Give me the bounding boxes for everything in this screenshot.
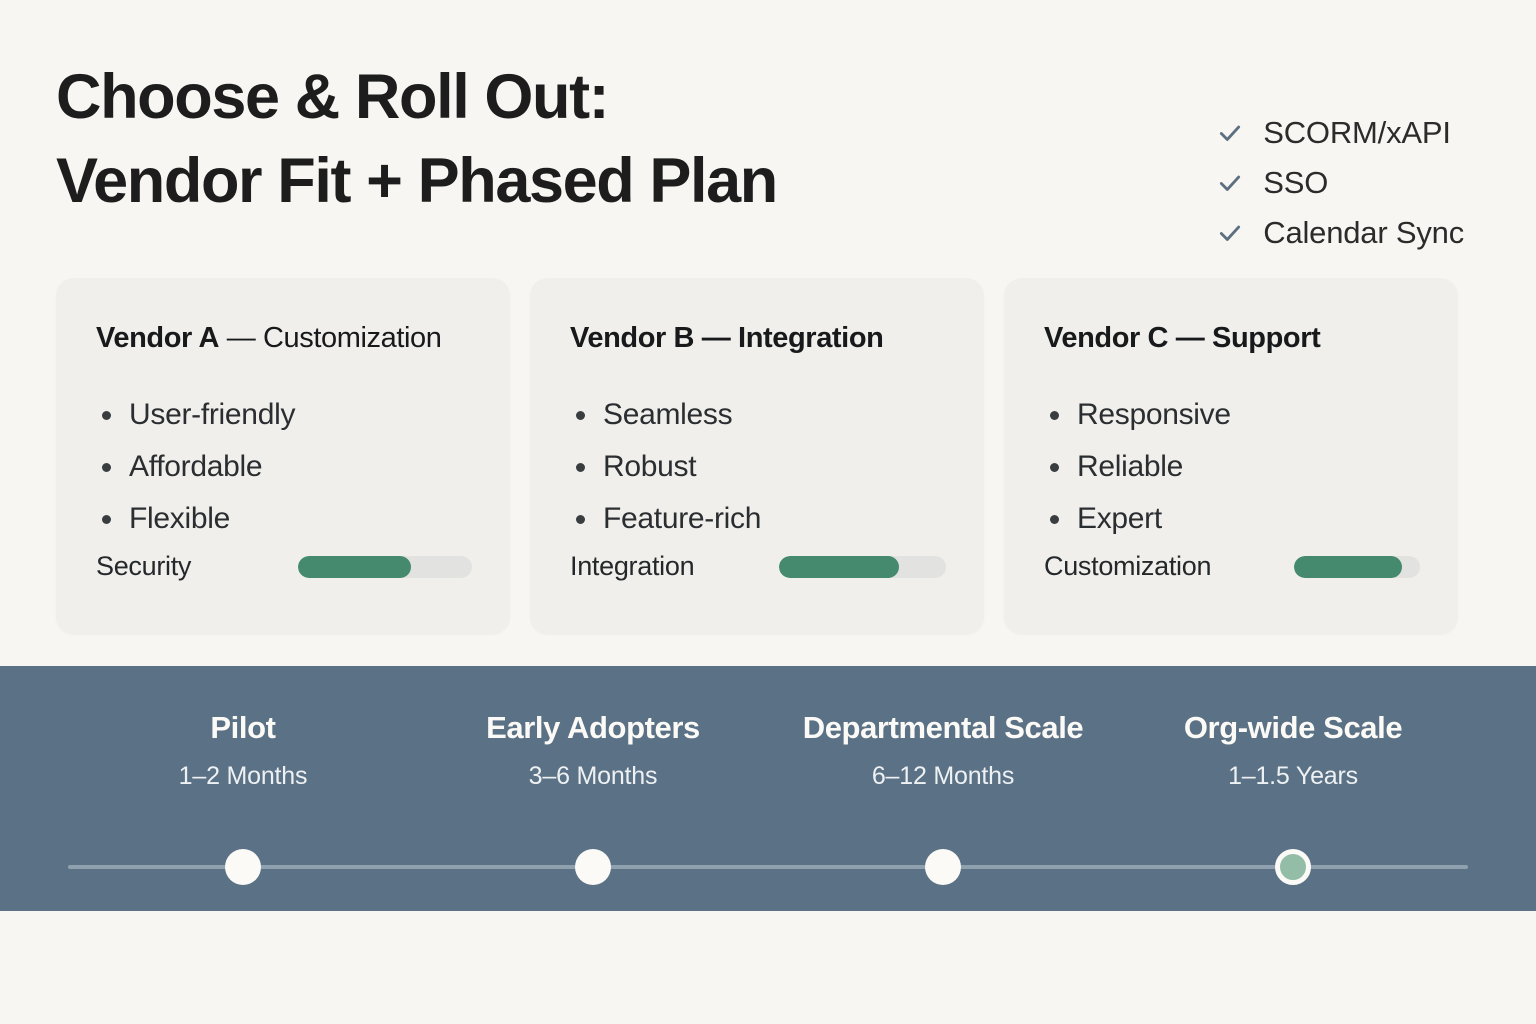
vendor-title-separator: —	[219, 322, 263, 354]
list-item: Expert	[1044, 493, 1418, 545]
timeline-phase[interactable]: Org-wide Scale 1–1.5 Years	[1118, 710, 1468, 791]
vendor-feature-list: Responsive Reliable Expert	[1044, 389, 1418, 545]
capability-badge: SSO	[1217, 158, 1464, 208]
timeline-phase[interactable]: Departmental Scale 6–12 Months	[768, 710, 1118, 791]
vendor-metric: Customization	[1044, 551, 1420, 582]
list-item: Seamless	[570, 389, 944, 441]
timeline-node-cell	[1118, 847, 1468, 887]
feature-label: Expert	[1077, 502, 1162, 536]
phase-name: Departmental Scale	[768, 710, 1118, 746]
bullet-dot-icon	[102, 463, 111, 472]
vendor-title-separator: —	[694, 322, 738, 354]
metric-progress-track	[298, 556, 472, 578]
phase-name: Pilot	[68, 710, 418, 746]
bullet-dot-icon	[102, 515, 111, 524]
timeline-phase[interactable]: Pilot 1–2 Months	[68, 710, 418, 791]
vendor-card-a[interactable]: Vendor A — Customization User-friendly A…	[56, 278, 510, 634]
vendor-card-b[interactable]: Vendor B — Integration Seamless Robust F…	[530, 278, 984, 634]
list-item: Responsive	[1044, 389, 1418, 441]
phase-name: Org-wide Scale	[1118, 710, 1468, 746]
vendor-strength: Support	[1212, 322, 1320, 354]
timeline-node-cell	[68, 847, 418, 887]
feature-label: User-friendly	[129, 398, 295, 432]
feature-label: Feature-rich	[603, 502, 761, 536]
bullet-dot-icon	[102, 411, 111, 420]
vendor-feature-list: User-friendly Affordable Flexible	[96, 389, 470, 545]
timeline-phase[interactable]: Early Adopters 3–6 Months	[418, 710, 768, 791]
vendor-name: Vendor A	[96, 322, 219, 354]
vendor-name: Vendor C	[1044, 322, 1168, 354]
timeline-node-list	[68, 847, 1468, 887]
list-item: Flexible	[96, 493, 470, 545]
metric-progress-fill	[1294, 556, 1402, 578]
feature-label: Flexible	[129, 502, 230, 536]
check-icon	[1217, 220, 1243, 246]
list-item: Affordable	[96, 441, 470, 493]
list-item: Reliable	[1044, 441, 1418, 493]
bullet-dot-icon	[576, 463, 585, 472]
metric-progress-track	[779, 556, 946, 578]
capability-badge-label: SCORM/xAPI	[1263, 115, 1450, 151]
vendor-card-title: Vendor B — Integration	[570, 322, 944, 355]
header: Choose & Roll Out: Vendor Fit + Phased P…	[0, 0, 1536, 270]
bullet-dot-icon	[576, 515, 585, 524]
timeline-node-cell	[768, 847, 1118, 887]
list-item: Feature-rich	[570, 493, 944, 545]
feature-label: Affordable	[129, 450, 262, 484]
phase-duration: 3–6 Months	[418, 762, 768, 791]
check-icon	[1217, 170, 1243, 196]
vendor-card-title: Vendor C — Support	[1044, 322, 1418, 355]
timeline-phase-labels: Pilot 1–2 Months Early Adopters 3–6 Mont…	[68, 710, 1468, 791]
vendor-metric: Security	[96, 551, 472, 582]
vendor-feature-list: Seamless Robust Feature-rich	[570, 389, 944, 545]
timeline-node-cell	[418, 847, 768, 887]
list-item: Robust	[570, 441, 944, 493]
timeline-node-pilot[interactable]	[225, 849, 261, 885]
list-item: User-friendly	[96, 389, 470, 441]
check-icon	[1217, 120, 1243, 146]
metric-label: Customization	[1044, 551, 1211, 582]
vendor-metric: Integration	[570, 551, 946, 582]
vendor-name: Vendor B	[570, 322, 694, 354]
capability-badge: SCORM/xAPI	[1217, 108, 1464, 158]
vendor-card-title: Vendor A — Customization	[96, 322, 470, 355]
phase-duration: 1–1.5 Years	[1118, 762, 1468, 791]
page-title: Choose & Roll Out: Vendor Fit + Phased P…	[56, 56, 777, 224]
feature-label: Robust	[603, 450, 696, 484]
bullet-dot-icon	[1050, 411, 1059, 420]
vendor-card-list: Vendor A — Customization User-friendly A…	[56, 278, 1458, 634]
rollout-timeline: Pilot 1–2 Months Early Adopters 3–6 Mont…	[0, 666, 1536, 911]
metric-label: Security	[96, 551, 191, 582]
phase-duration: 1–2 Months	[68, 762, 418, 791]
timeline-node-departmental-scale[interactable]	[925, 849, 961, 885]
capability-badge-label: Calendar Sync	[1263, 215, 1464, 251]
bullet-dot-icon	[1050, 515, 1059, 524]
metric-progress-track	[1294, 556, 1420, 578]
feature-label: Reliable	[1077, 450, 1183, 484]
vendor-strength: Integration	[738, 322, 883, 354]
vendor-title-separator: —	[1168, 322, 1212, 354]
timeline-track	[68, 847, 1468, 887]
capability-badge-list: SCORM/xAPI SSO Calendar Sync	[1217, 108, 1464, 258]
bullet-dot-icon	[576, 411, 585, 420]
metric-progress-fill	[298, 556, 411, 578]
timeline-node-org-wide-scale[interactable]	[1275, 849, 1311, 885]
feature-label: Responsive	[1077, 398, 1231, 432]
capability-badge: Calendar Sync	[1217, 208, 1464, 258]
metric-label: Integration	[570, 551, 694, 582]
vendor-strength: Customization	[263, 322, 442, 354]
bullet-dot-icon	[1050, 463, 1059, 472]
vendor-card-c[interactable]: Vendor C — Support Responsive Reliable E…	[1004, 278, 1458, 634]
capability-badge-label: SSO	[1263, 165, 1328, 201]
phase-name: Early Adopters	[418, 710, 768, 746]
timeline-node-early-adopters[interactable]	[575, 849, 611, 885]
phase-duration: 6–12 Months	[768, 762, 1118, 791]
metric-progress-fill	[779, 556, 899, 578]
feature-label: Seamless	[603, 398, 732, 432]
